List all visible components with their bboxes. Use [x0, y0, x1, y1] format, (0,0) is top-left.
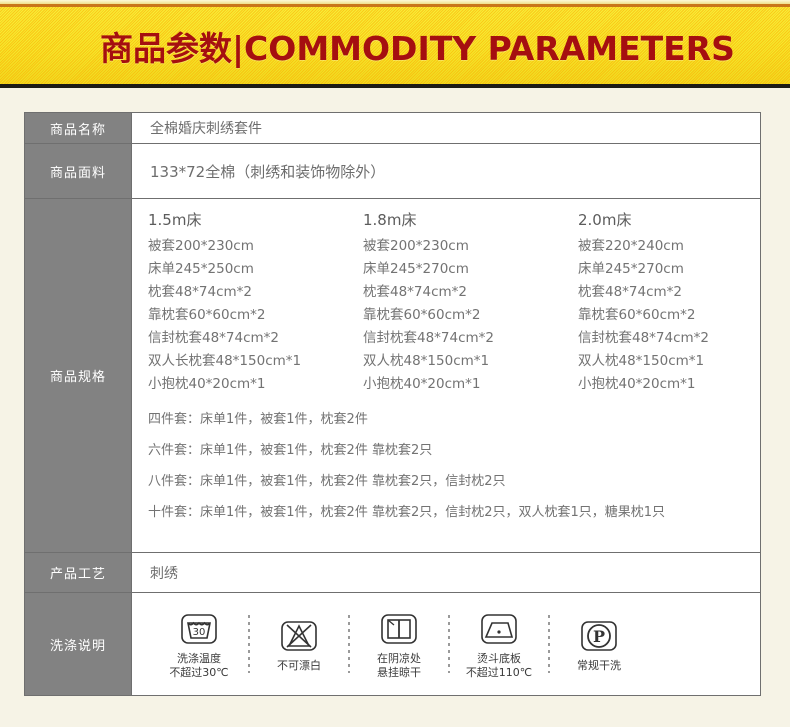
care-caption-line2: 不超过110℃: [466, 666, 532, 679]
set-line-6pcs: 六件套：床单1件，被套1件，枕套2件 靠枕套2只: [148, 435, 790, 466]
care-item-no-bleach: 不可漂白: [262, 616, 336, 673]
product-parameters-page: 商品参数|COMMODITY PARAMETERS 商品名称 全棉婚庆刺绣套件 …: [0, 0, 790, 727]
wash-tub-30-icon: 30: [179, 609, 219, 649]
care-item-iron-temperature: 烫斗底板 不超过110℃: [462, 609, 536, 680]
spec-item: 小抱枕40*20cm*1: [363, 373, 578, 396]
set-line-10pcs: 十件套：床单1件，被套1件，枕套2件 靠枕套2只，信封枕2只，双人枕套1只，糖果…: [148, 497, 790, 528]
spec-item: 双人枕48*150cm*1: [363, 350, 578, 373]
specification-columns: 1.5m床 被套200*230cm 床单245*250cm 枕套48*74cm*…: [148, 209, 790, 396]
dry-clean-p-icon: P: [579, 616, 619, 656]
page-title: 商品参数|COMMODITY PARAMETERS: [100, 22, 735, 70]
spec-item: 床单245*270cm: [363, 258, 578, 281]
table-row-fabric: 商品面料 133*72全棉（刺绣和装饰物除外）: [25, 144, 760, 199]
parameters-table: 商品名称 全棉婚庆刺绣套件 商品面料 133*72全棉（刺绣和装饰物除外） 商品…: [24, 112, 761, 696]
care-caption: 烫斗底板 不超过110℃: [466, 652, 532, 680]
table-row-craft: 产品工艺 刺绣: [25, 553, 760, 593]
spec-item: 靠枕套60*60cm*2: [578, 304, 790, 327]
table-row-specification: 商品规格 1.5m床 被套200*230cm 床单245*250cm 枕套48*…: [25, 199, 760, 553]
spec-item: 信封枕套48*74cm*2: [578, 327, 790, 350]
spec-item: 小抱枕40*20cm*1: [578, 373, 790, 396]
care-caption-line1: 常规干洗: [577, 659, 621, 672]
spec-column-2_0m: 2.0m床 被套220*240cm 床单245*270cm 枕套48*74cm*…: [578, 209, 790, 396]
row-label-product-name: 商品名称: [25, 113, 132, 143]
row-label-care: 洗涤说明: [25, 593, 132, 695]
spec-item: 靠枕套60*60cm*2: [363, 304, 578, 327]
care-divider: [348, 615, 350, 673]
care-caption-line1: 在阴凉处: [377, 652, 421, 665]
care-caption-line2: 悬挂晾干: [377, 666, 421, 679]
spec-item: 被套200*230cm: [148, 235, 363, 258]
care-divider: [248, 615, 250, 673]
spec-item: 双人枕48*150cm*1: [578, 350, 790, 373]
care-divider: [548, 615, 550, 673]
care-caption-line1: 烫斗底板: [477, 652, 521, 665]
specification-body: 1.5m床 被套200*230cm 床单245*250cm 枕套48*74cm*…: [132, 199, 790, 552]
spec-item: 枕套48*74cm*2: [148, 281, 363, 304]
care-instructions-body: 30 洗涤温度 不超过30℃: [132, 593, 760, 695]
drip-dry-shade-icon: [379, 609, 419, 649]
care-caption: 常规干洗: [577, 659, 621, 673]
row-label-fabric: 商品面料: [25, 144, 132, 198]
iron-110-icon: [479, 609, 519, 649]
spec-column-1_8m: 1.8m床 被套200*230cm 床单245*270cm 枕套48*74cm*…: [363, 209, 578, 396]
care-item-drip-dry-shade: 在阴凉处 悬挂晾干: [362, 609, 436, 680]
spec-item: 靠枕套60*60cm*2: [148, 304, 363, 327]
care-caption-line1: 不可漂白: [277, 659, 321, 672]
page-banner: 商品参数|COMMODITY PARAMETERS: [0, 4, 790, 88]
row-value-fabric: 133*72全棉（刺绣和装饰物除外）: [132, 144, 760, 198]
set-line-8pcs: 八件套：床单1件，被套1件，枕套2件 靠枕套2只，信封枕2只: [148, 466, 790, 497]
spec-item: 信封枕套48*74cm*2: [148, 327, 363, 350]
spec-item: 被套220*240cm: [578, 235, 790, 258]
svg-text:30: 30: [193, 627, 206, 638]
set-composition-list: 四件套：床单1件，被套1件，枕套2件 六件套：床单1件，被套1件，枕套2件 靠枕…: [148, 404, 790, 528]
table-row-care: 洗涤说明 30 洗涤温度 不超过30℃: [25, 593, 760, 695]
row-value-craft: 刺绣: [132, 553, 760, 592]
spec-item: 被套200*230cm: [363, 235, 578, 258]
care-item-wash-temperature: 30 洗涤温度 不超过30℃: [162, 609, 236, 680]
spec-column-head: 1.8m床: [363, 209, 578, 230]
spec-item: 信封枕套48*74cm*2: [363, 327, 578, 350]
svg-text:P: P: [593, 627, 605, 646]
table-row-product-name: 商品名称 全棉婚庆刺绣套件: [25, 113, 760, 144]
care-caption: 在阴凉处 悬挂晾干: [377, 652, 421, 680]
spec-item: 小抱枕40*20cm*1: [148, 373, 363, 396]
care-caption: 不可漂白: [277, 659, 321, 673]
spec-column-head: 2.0m床: [578, 209, 790, 230]
row-value-product-name: 全棉婚庆刺绣套件: [132, 113, 760, 143]
spec-item: 床单245*270cm: [578, 258, 790, 281]
care-caption: 洗涤温度 不超过30℃: [169, 652, 228, 680]
row-label-craft: 产品工艺: [25, 553, 132, 592]
row-label-specification: 商品规格: [25, 199, 132, 552]
spec-item: 枕套48*74cm*2: [578, 281, 790, 304]
spec-column-1_5m: 1.5m床 被套200*230cm 床单245*250cm 枕套48*74cm*…: [148, 209, 363, 396]
spec-item: 双人长枕套48*150cm*1: [148, 350, 363, 373]
no-bleach-icon: [279, 616, 319, 656]
care-caption-line1: 洗涤温度: [177, 652, 221, 665]
spec-item: 枕套48*74cm*2: [363, 281, 578, 304]
spec-column-head: 1.5m床: [148, 209, 363, 230]
spec-item: 床单245*250cm: [148, 258, 363, 281]
set-line-4pcs: 四件套：床单1件，被套1件，枕套2件: [148, 404, 790, 435]
care-caption-line2: 不超过30℃: [169, 666, 228, 679]
care-divider: [448, 615, 450, 673]
care-item-dry-clean: P 常规干洗: [562, 616, 636, 673]
